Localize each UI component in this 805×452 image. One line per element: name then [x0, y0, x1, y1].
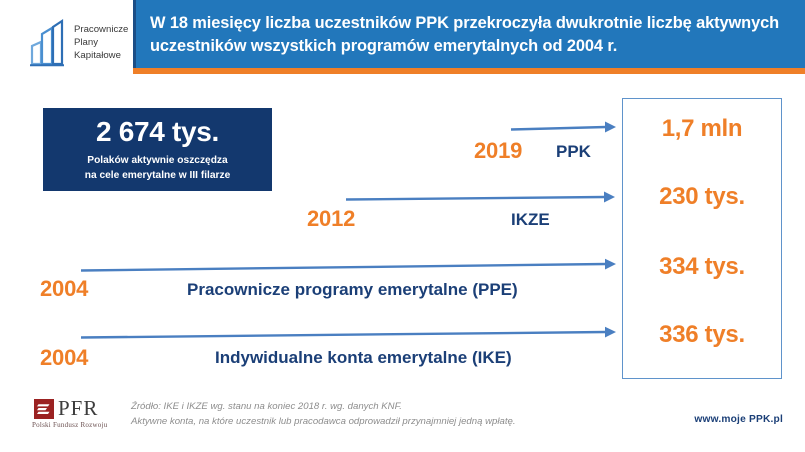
ppk-logo-line-2: Plany: [74, 37, 134, 50]
value-ppe: 334 tys.: [623, 253, 781, 281]
pfr-subtitle: Polski Fundusz Rozwoju: [32, 421, 108, 429]
infographic-page: Pracownicze Plany Kapitałowe W 18 miesię…: [0, 0, 805, 452]
values-box: 1,7 mln 230 tys. 334 tys. 336 tys.: [622, 98, 782, 379]
value-ppk: 1,7 mln: [623, 115, 781, 143]
ppk-logo: Pracownicze Plany Kapitałowe: [28, 18, 132, 70]
timeline-label-ike: Indywidualne konta emerytalne (IKE): [215, 348, 512, 368]
ppk-logo-line-1: Pracownicze: [74, 24, 134, 37]
value-ike: 336 tys.: [623, 321, 781, 349]
source-note: Źródło: IKE i IKZE wg. stanu na koniec 2…: [131, 400, 561, 430]
timeline-year-ppe: 2004: [40, 276, 88, 302]
ppk-bar-chart-icon: [28, 18, 72, 68]
source-note-line-1: Źródło: IKE i IKZE wg. stanu na koniec 2…: [131, 400, 561, 415]
ppk-logo-wordmark: Pracownicze Plany Kapitałowe: [74, 24, 134, 62]
footer-url[interactable]: www.moje PPK.pl: [694, 414, 783, 425]
timeline-arrow-ikze: [345, 190, 617, 211]
timeline-year-ppk: 2019: [474, 138, 522, 164]
timeline-label-ikze: IKZE: [511, 210, 550, 230]
headline-stat-description-line-1: Polaków aktywnie oszczędza: [51, 154, 264, 169]
header-band: W 18 miesięcy liczba uczestników PPK prz…: [133, 0, 805, 68]
page-title: W 18 miesięcy liczba uczestników PPK prz…: [150, 12, 799, 57]
pfr-logo: PFR Polski Fundusz Rozwoju: [30, 398, 130, 434]
timeline-label-ppe: Pracownicze programy emerytalne (PPE): [187, 280, 518, 300]
timeline-year-ikze: 2012: [307, 206, 355, 232]
pfr-wordmark: PFR: [58, 396, 98, 421]
timeline-label-ppk: PPK: [556, 142, 591, 162]
header-accent-bar: [133, 68, 805, 74]
ppk-logo-line-3: Kapitałowe: [74, 50, 134, 63]
pfr-square-icon: [34, 399, 54, 419]
value-ikze: 230 tys.: [623, 183, 781, 211]
timeline-arrow-ppk: [510, 120, 618, 141]
headline-stat-description: Polaków aktywnie oszczędza na cele emery…: [51, 154, 264, 184]
headline-stat-description-line-2: na cele emerytalne w III filarze: [51, 169, 264, 184]
source-note-line-2: Aktywne konta, na które uczestnik lub pr…: [131, 415, 561, 430]
timeline-year-ike: 2004: [40, 345, 88, 371]
headline-stat-value: 2 674 tys.: [43, 116, 272, 148]
headline-stat-box: 2 674 tys. Polaków aktywnie oszczędza na…: [43, 108, 272, 191]
